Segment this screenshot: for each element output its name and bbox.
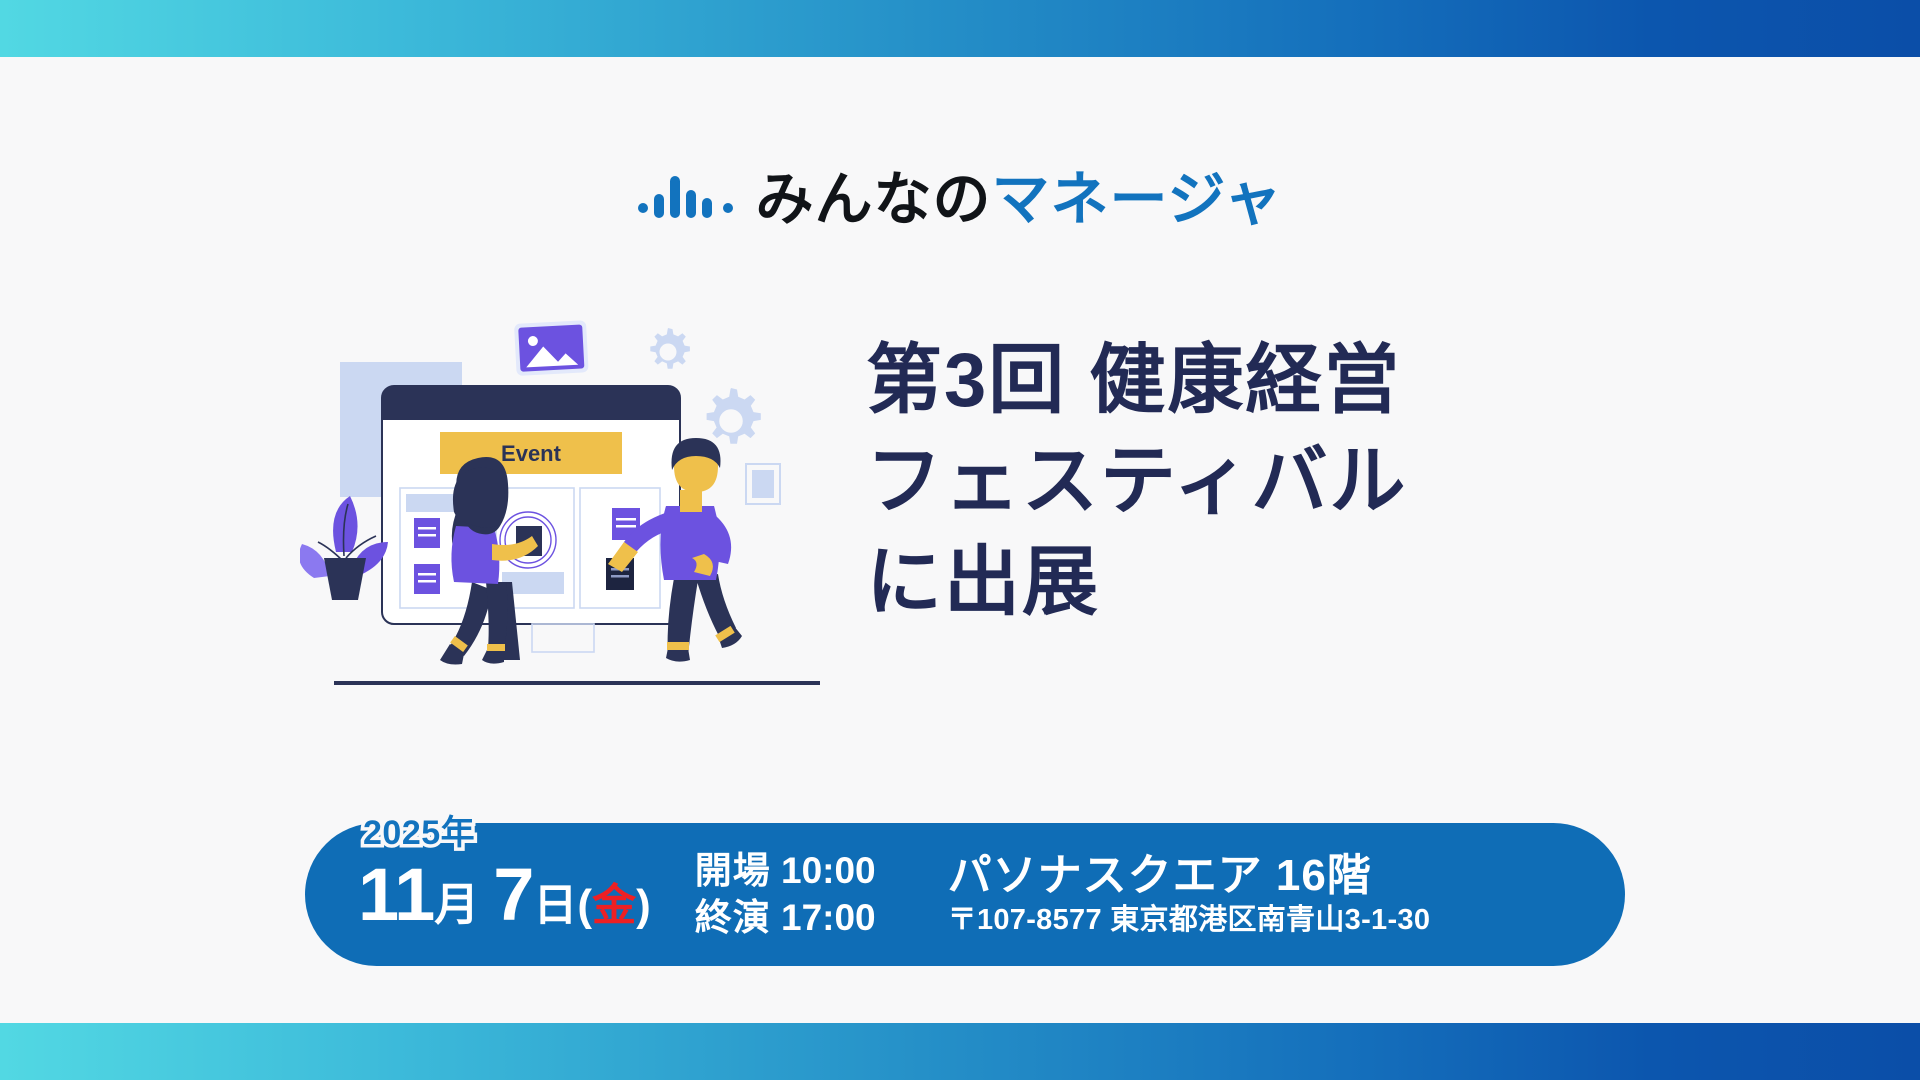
event-venue-name: パソナスクエア 16階 bbox=[948, 850, 1431, 902]
date-month-unit: 月 bbox=[434, 882, 479, 927]
gear-icon-small bbox=[650, 328, 690, 369]
date-weekday-close: ) bbox=[636, 884, 651, 928]
event-time-open: 開場 10:00 bbox=[695, 848, 876, 894]
event-times: 開場 10:00 終演 17:00 bbox=[695, 848, 876, 941]
image-thumbnail-icon bbox=[514, 320, 589, 376]
event-time-close: 終演 17:00 bbox=[695, 895, 876, 941]
bottom-gradient-band bbox=[0, 1023, 1920, 1080]
date-weekday-open: ( bbox=[577, 884, 592, 928]
potted-plant bbox=[300, 496, 388, 600]
browser-window: Event bbox=[382, 386, 680, 652]
event-time-open-value: 10:00 bbox=[781, 850, 876, 891]
date-day-unit: 日 bbox=[533, 884, 577, 928]
event-date: 11月7日(金) bbox=[358, 858, 651, 932]
event-time-close-value: 17:00 bbox=[781, 897, 876, 938]
event-illustration: Event bbox=[300, 300, 820, 720]
headline-line-2: フェスティバル bbox=[866, 431, 1666, 532]
decor-square-right bbox=[746, 464, 780, 504]
event-year-label: 2025年 bbox=[363, 805, 475, 854]
page-title: 第3回 健康経営 フェスティバル に出展 bbox=[866, 330, 1666, 633]
date-day-number: 7 bbox=[493, 858, 533, 932]
logo-text-dark: みんなの bbox=[756, 167, 992, 232]
headline-line-3: に出展 bbox=[866, 532, 1666, 633]
date-month-number: 11 bbox=[358, 858, 434, 932]
audio-waveform-icon bbox=[638, 168, 734, 231]
event-time-close-label: 終演 bbox=[695, 897, 771, 938]
event-venue-address: 〒107-8577 東京都港区南青山3-1-30 bbox=[948, 902, 1431, 940]
logo-wordmark: みんなのマネージャ bbox=[756, 171, 1283, 229]
event-venue: パソナスクエア 16階 〒107-8577 東京都港区南青山3-1-30 bbox=[948, 850, 1431, 940]
headline-line-1: 第3回 健康経営 bbox=[866, 330, 1666, 431]
event-info-bar: 11月7日(金) 開場 10:00 終演 17:00 パソナスクエア 16階 〒… bbox=[305, 823, 1625, 966]
event-time-open-label: 開場 bbox=[695, 850, 771, 891]
logo-text-blue: マネージャ bbox=[992, 167, 1283, 232]
brand-logo: みんなのマネージャ bbox=[0, 168, 1920, 231]
date-weekday: 金 bbox=[592, 884, 636, 928]
top-gradient-band bbox=[0, 0, 1920, 57]
event-banner-label: Event bbox=[501, 441, 562, 466]
gear-icon-large bbox=[707, 388, 761, 444]
